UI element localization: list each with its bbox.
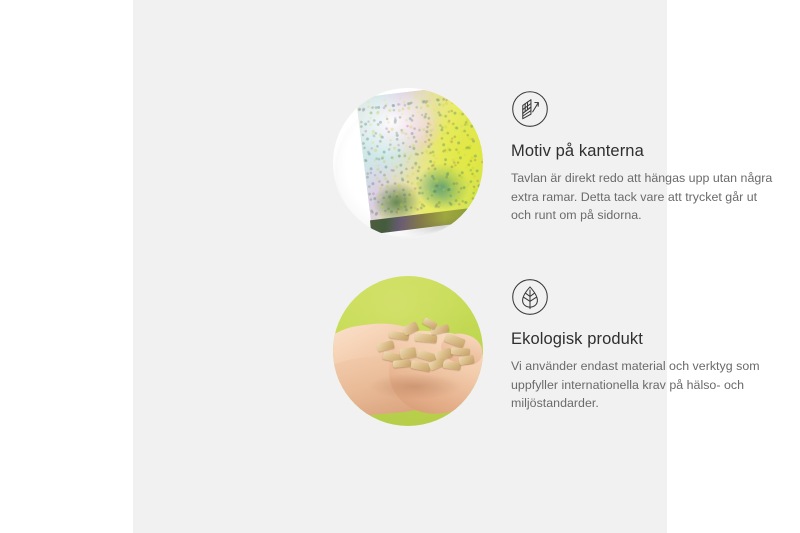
leaf-icon [511, 278, 549, 316]
feature-title: Ekologisk produkt [511, 330, 779, 350]
feature-text-block: Ekologisk produkt Vi använder endast mat… [511, 276, 779, 413]
wood-chip-pile [373, 320, 477, 374]
palm-shading [363, 372, 467, 408]
canvas-print-corner-photo [333, 88, 483, 238]
canvas-print-body [356, 88, 483, 223]
feature-title: Motiv på kanterna [511, 142, 779, 162]
promo-graphic: Motiv på kanterna Tavlan är direkt redo … [0, 0, 800, 533]
feature-description: Tavlan är direkt redo att hängas upp uta… [511, 169, 779, 226]
canvas-print-face [356, 88, 483, 223]
hands-holding-wood-chips-photo [333, 276, 483, 426]
feature-text-block: Motiv på kanterna Tavlan är direkt redo … [511, 88, 779, 225]
paint-speckle-texture [356, 88, 483, 223]
feature-block-ekologisk-produkt: Ekologisk produkt Vi använder endast mat… [333, 276, 779, 426]
canvas-wrap-edge-icon [511, 90, 549, 128]
hands-illustration [333, 276, 483, 426]
content-panel: Motiv på kanterna Tavlan är direkt redo … [133, 0, 667, 533]
feature-description: Vi använder endast material och verktyg … [511, 357, 779, 414]
feature-block-motiv-pa-kanterna: Motiv på kanterna Tavlan är direkt redo … [333, 88, 779, 238]
